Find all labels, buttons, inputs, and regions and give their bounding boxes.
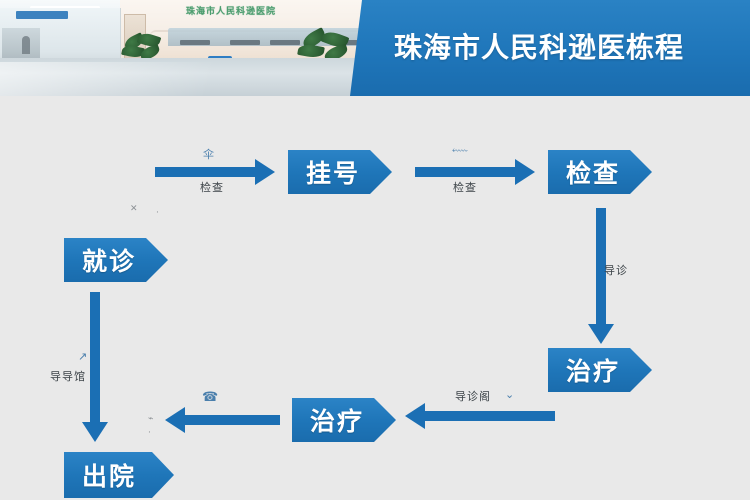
- flow-arrow-glyph-2: ⬳: [452, 144, 468, 158]
- flow-node-label: 治疗: [548, 352, 620, 388]
- flow-arrow-right-1: [155, 167, 255, 177]
- flow-node-zhiliao-bottom[interactable]: 治疗: [292, 398, 396, 442]
- flow-arrow-label-6: 导导馆: [50, 368, 86, 384]
- flow-arrow-glyph-4: ⌄: [505, 388, 514, 401]
- flowchart-canvas: 挂号 检查 检查 伞 检查 ⬳ 导诊 治疗 导诊阁 ⌄ 治疗 ☎: [0, 96, 750, 500]
- flow-node-chuyuan[interactable]: 出院: [64, 452, 174, 498]
- flow-arrow-glyph-6: ↗: [78, 350, 87, 363]
- artifact-speck: ·: [156, 208, 159, 218]
- flow-arrow-label-2: 检查: [453, 179, 477, 195]
- flowchart-poster: 珠海市人民科逊医院: [0, 0, 750, 500]
- flow-arrow-label-4: 导诊阁: [455, 388, 491, 404]
- header-banner-region: 珠海市人民科逊医院: [0, 0, 750, 96]
- flow-node-zhiliao-right[interactable]: 治疗: [548, 348, 652, 392]
- flow-node-label: 治疗: [292, 402, 364, 438]
- flow-arrow-glyph-1: 伞: [203, 146, 214, 162]
- artifact-speck: ·: [148, 428, 151, 438]
- artifact-speck: ⌁: [148, 414, 153, 424]
- flow-arrow-left-1: [425, 411, 555, 421]
- artifact-speck: ✕: [130, 204, 138, 214]
- flow-node-label: 就诊: [64, 242, 136, 278]
- page-title: 珠海市人民科逊医栋程: [394, 26, 739, 66]
- flow-node-jiancha[interactable]: 检查: [548, 150, 652, 194]
- flow-arrow-down-left: [90, 292, 100, 422]
- flow-arrow-label-3: 导诊: [604, 262, 628, 278]
- flow-arrow-right-2: [415, 167, 515, 177]
- flow-node-guahao[interactable]: 挂号: [288, 150, 392, 194]
- flow-arrow-left-2: [185, 415, 280, 425]
- title-banner: 珠海市人民科逊医栋程: [0, 0, 750, 96]
- flow-arrow-label-1: 检查: [200, 179, 224, 195]
- flow-node-label: 检查: [548, 154, 620, 190]
- flow-node-label: 挂号: [288, 154, 360, 190]
- flow-node-jiuzhen[interactable]: 就诊: [64, 238, 168, 282]
- flow-arrow-glyph-5: ☎: [202, 390, 218, 405]
- flow-node-label: 出院: [64, 457, 136, 493]
